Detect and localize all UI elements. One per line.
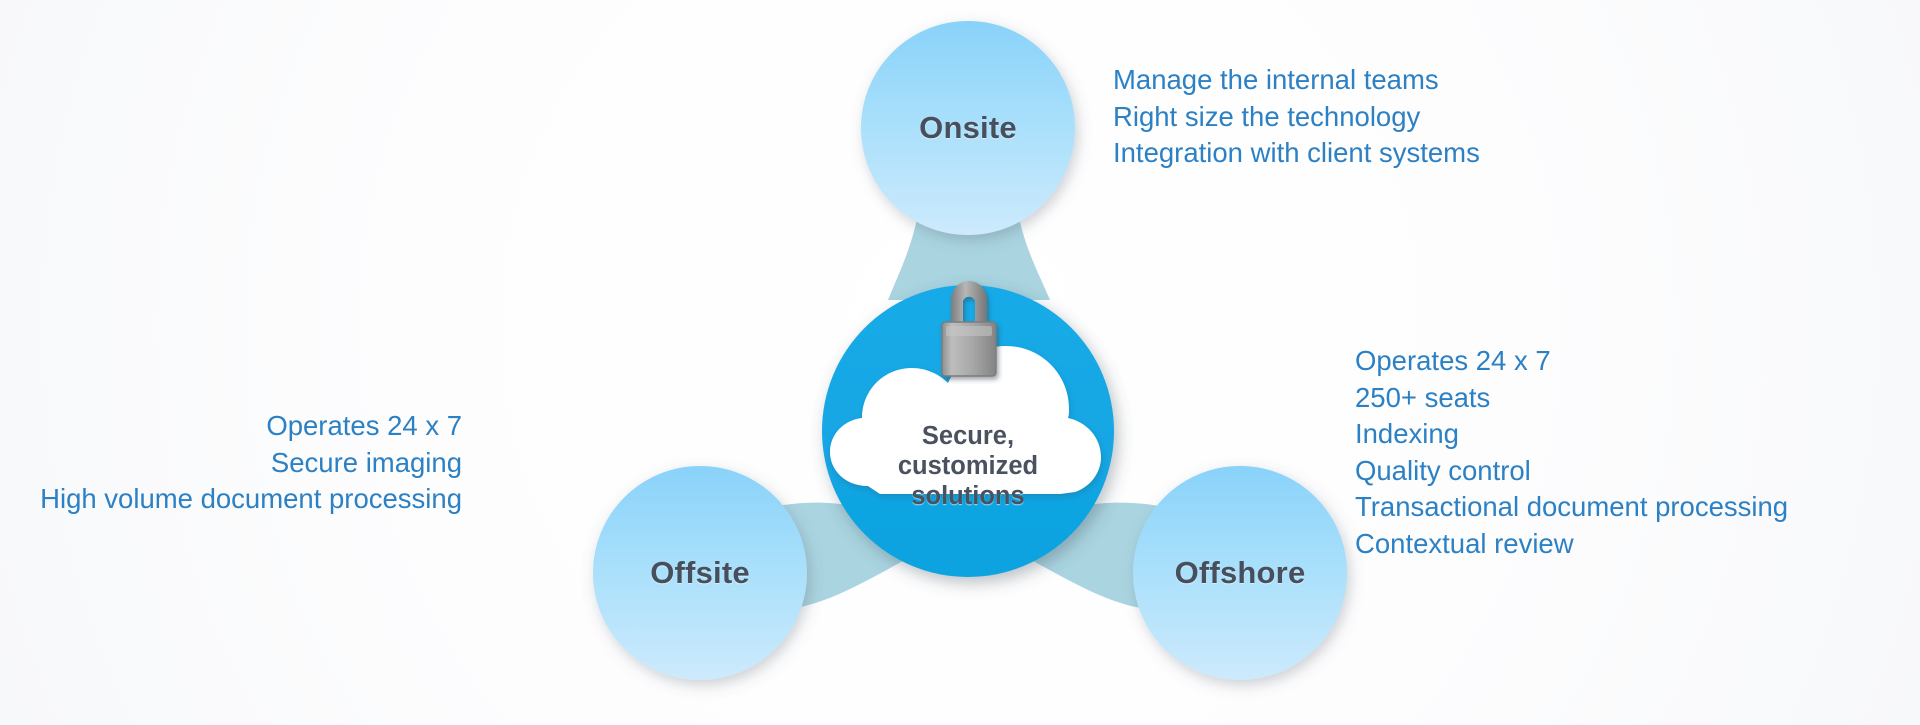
hub-label: Secure, customized solutions xyxy=(863,421,1073,511)
callout-offshore-item-3: Indexing xyxy=(1355,416,1788,453)
callout-list-offsite: Operates 24 x 7 Secure imaging High volu… xyxy=(40,408,462,518)
callout-offsite-item-3: High volume document processing xyxy=(40,481,462,518)
node-label-offshore[interactable]: Offshore xyxy=(1175,555,1306,591)
callout-offshore-item-4: Quality control xyxy=(1355,453,1788,490)
callout-onsite-item-1: Manage the internal teams xyxy=(1113,62,1480,99)
callout-onsite-item-2: Right size the technology xyxy=(1113,99,1480,136)
callout-offsite-item-2: Secure imaging xyxy=(40,445,462,482)
diagram-canvas: Secure, customized solutions Onsite Offs… xyxy=(0,0,1920,725)
callout-offsite-item-1: Operates 24 x 7 xyxy=(40,408,462,445)
node-label-onsite[interactable]: Onsite xyxy=(919,110,1017,146)
callout-offshore-item-1: Operates 24 x 7 xyxy=(1355,343,1788,380)
hub-label-line-2: customized xyxy=(863,451,1073,481)
callout-onsite-item-3: Integration with client systems xyxy=(1113,135,1480,172)
node-label-offsite[interactable]: Offsite xyxy=(650,555,750,591)
callout-list-onsite: Manage the internal teams Right size the… xyxy=(1113,62,1480,172)
callout-offshore-item-2: 250+ seats xyxy=(1355,380,1788,417)
callout-list-offshore: Operates 24 x 7 250+ seats Indexing Qual… xyxy=(1355,343,1788,562)
callout-offshore-item-6: Contextual review xyxy=(1355,526,1788,563)
callout-offshore-item-5: Transactional document processing xyxy=(1355,489,1788,526)
hub-label-line-3: solutions xyxy=(863,481,1073,511)
hub-label-line-1: Secure, xyxy=(863,421,1073,451)
